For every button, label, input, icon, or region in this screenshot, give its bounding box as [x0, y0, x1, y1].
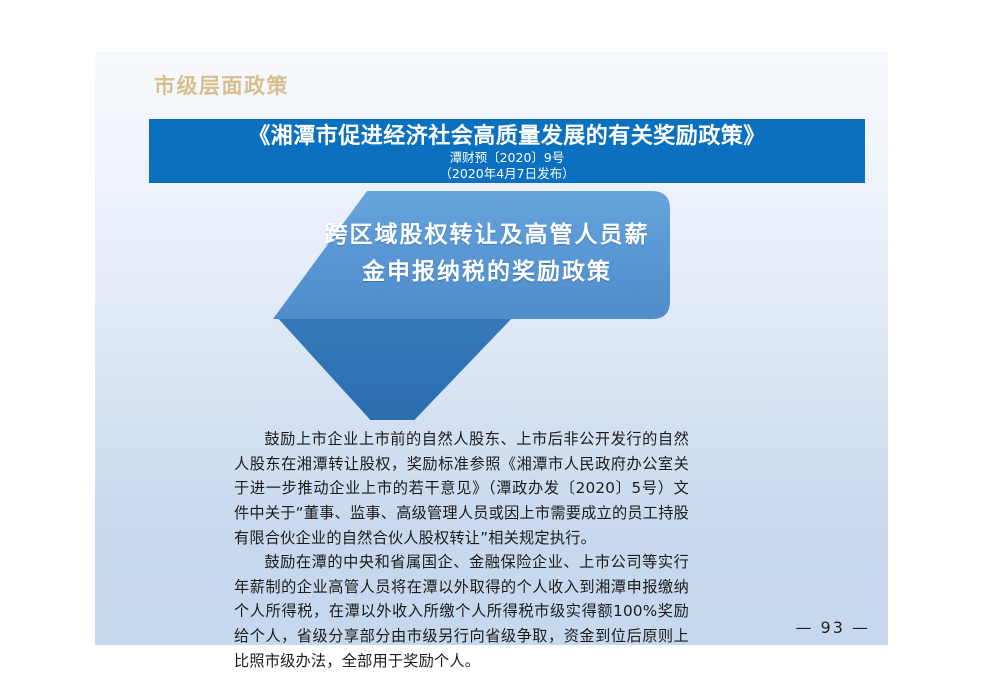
- page-number: — 93 —: [795, 618, 870, 637]
- banner-document-number: 潭财预〔2020〕9号: [450, 150, 565, 166]
- callout-body-shape: [270, 189, 670, 319]
- section-heading: 市级层面政策: [154, 76, 289, 97]
- banner-title: 《湘潭市促进经济社会高质量发展的有关奖励政策》: [248, 122, 766, 151]
- title-banner: 《湘潭市促进经济社会高质量发展的有关奖励政策》 潭财预〔2020〕9号 （202…: [149, 119, 865, 183]
- body-paragraph-2: 鼓励在潭的中央和省属国企、金融保险企业、上市公司等实行年薪制的企业高管人员将在潭…: [234, 550, 689, 673]
- slide-page: 市级层面政策 《湘潭市促进经济社会高质量发展的有关奖励政策》 潭财预〔2020〕…: [95, 52, 888, 645]
- banner-issue-date: （2020年4月7日发布）: [439, 166, 574, 182]
- callout-banner: 跨区域股权转让及高管人员薪 金申报纳税的奖励政策: [270, 185, 670, 420]
- body-text: 鼓励上市企业上市前的自然人股东、上市后非公开发行的自然人股东在湘潭转让股权，奖励…: [234, 427, 689, 673]
- body-paragraph-1: 鼓励上市企业上市前的自然人股东、上市后非公开发行的自然人股东在湘潭转让股权，奖励…: [234, 427, 689, 550]
